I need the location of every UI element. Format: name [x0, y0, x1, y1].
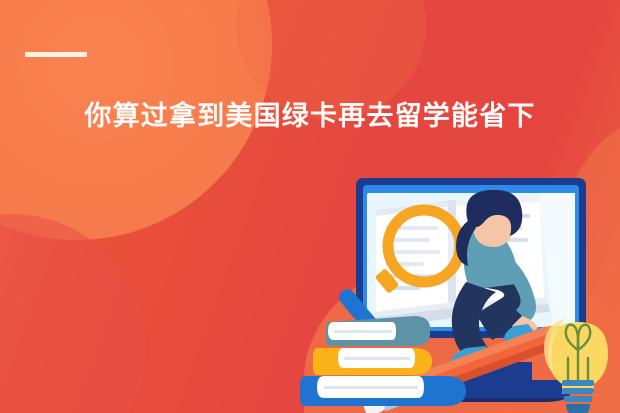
- decorative-circle-bottom-left: [0, 214, 146, 413]
- banner-headline: 你算过拿到美国绿卡再去留学能省下: [0, 100, 620, 134]
- headline-group: 你算过拿到美国绿卡再去留学能省下: [0, 0, 620, 160]
- title-underline-rule: [25, 52, 87, 57]
- study-online-illustration: [296, 166, 620, 413]
- promo-banner: 你算过拿到美国绿卡再去留学能省下: [0, 0, 620, 413]
